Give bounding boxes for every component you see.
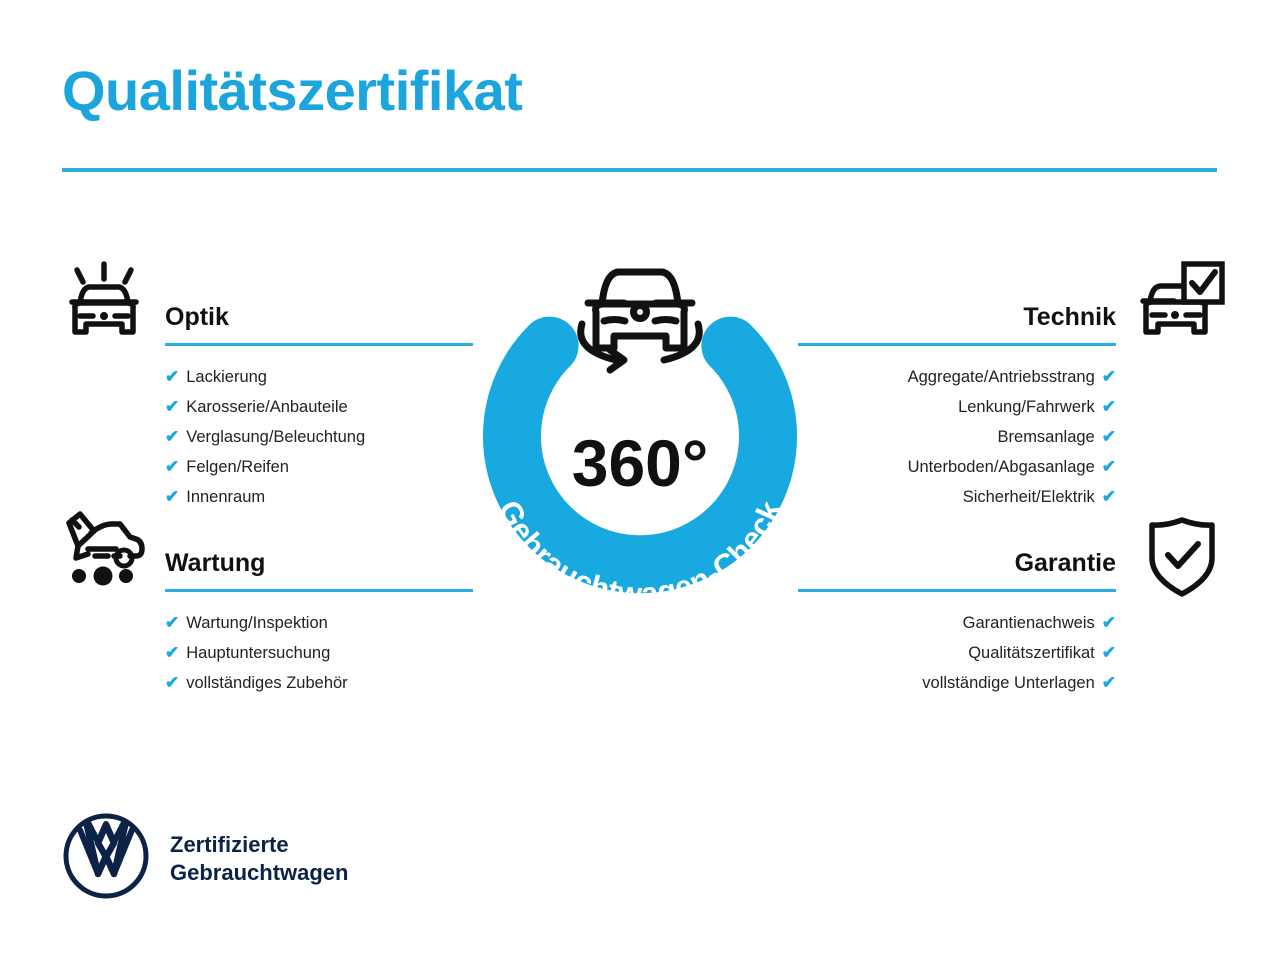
- check-icon: ✔: [1102, 638, 1116, 668]
- list-item: ✔Felgen/Reifen: [165, 452, 473, 482]
- list-item-label: Hauptuntersuchung: [186, 638, 330, 668]
- section-title: Wartung: [165, 546, 473, 580]
- section-header-garantie: Garantie: [798, 546, 1116, 592]
- check-icon: ✔: [165, 362, 179, 392]
- car-checkbox-icon: [1134, 258, 1226, 349]
- list-item: Qualitätszertifikat✔: [798, 638, 1116, 668]
- list-item: vollständige Unterlagen✔: [798, 668, 1116, 698]
- car-rotation-360-icon: [581, 272, 700, 370]
- section-title: Optik: [165, 300, 473, 334]
- check-icon: ✔: [165, 392, 179, 422]
- title-divider: [62, 168, 1217, 172]
- list-item: ✔Innenraum: [165, 482, 473, 512]
- section-divider: [798, 343, 1116, 346]
- check-icon: ✔: [165, 452, 179, 482]
- footer-text: Zertifizierte Gebrauchtwagen: [170, 831, 348, 887]
- check-icon: ✔: [1102, 452, 1116, 482]
- list-item: ✔vollständiges Zubehör: [165, 668, 473, 698]
- check-icon: ✔: [165, 608, 179, 638]
- list-item: Bremsanlage✔: [798, 422, 1116, 452]
- checklist-garantie: Garantienachweis✔ Qualitätszertifikat✔ v…: [798, 608, 1116, 698]
- list-item-label: vollständige Unterlagen: [922, 668, 1094, 698]
- list-item-label: Lenkung/Fahrwerk: [958, 392, 1095, 422]
- list-item-label: Verglasung/Beleuchtung: [186, 422, 365, 452]
- check-icon: ✔: [1102, 482, 1116, 512]
- check-icon: ✔: [165, 668, 179, 698]
- check-icon: ✔: [1102, 608, 1116, 638]
- section-header-optik: Optik: [165, 300, 473, 346]
- footer-brand: Zertifizierte Gebrauchtwagen: [62, 812, 348, 905]
- checklist-technik: Aggregate/Antriebsstrang✔ Lenkung/Fahrwe…: [798, 362, 1116, 512]
- check-icon: ✔: [1102, 392, 1116, 422]
- list-item-label: Sicherheit/Elektrik: [963, 482, 1095, 512]
- car-shine-icon: [58, 258, 150, 349]
- section-technik: Technik Aggregate/Antriebsstrang✔ Lenkun…: [798, 300, 1116, 512]
- list-item-label: Felgen/Reifen: [186, 452, 289, 482]
- section-divider: [165, 343, 473, 346]
- checklist-wartung: ✔Wartung/Inspektion ✔Hauptuntersuchung ✔…: [165, 608, 473, 698]
- section-header-wartung: Wartung: [165, 546, 473, 592]
- list-item-label: Wartung/Inspektion: [186, 608, 328, 638]
- check-icon: ✔: [165, 482, 179, 512]
- section-divider: [798, 589, 1116, 592]
- list-item: ✔Lackierung: [165, 362, 473, 392]
- check-icon: ✔: [1102, 422, 1116, 452]
- list-item-label: Qualitätszertifikat: [968, 638, 1095, 668]
- check-icon: ✔: [165, 422, 179, 452]
- list-item-label: Bremsanlage: [998, 422, 1095, 452]
- badge-center-label: 360°: [572, 426, 709, 500]
- list-item: Lenkung/Fahrwerk✔: [798, 392, 1116, 422]
- list-item-label: vollständiges Zubehör: [186, 668, 347, 698]
- checklist-optik: ✔Lackierung ✔Karosserie/Anbauteile ✔Verg…: [165, 362, 473, 512]
- list-item: Sicherheit/Elektrik✔: [798, 482, 1116, 512]
- list-item: ✔Hauptuntersuchung: [165, 638, 473, 668]
- list-item-label: Karosserie/Anbauteile: [186, 392, 347, 422]
- section-divider: [165, 589, 473, 592]
- check-icon: ✔: [1102, 362, 1116, 392]
- section-title: Garantie: [798, 546, 1116, 580]
- list-item: Unterboden/Abgasanlage✔: [798, 452, 1116, 482]
- list-item: ✔Karosserie/Anbauteile: [165, 392, 473, 422]
- list-item-label: Innenraum: [186, 482, 265, 512]
- list-item: Garantienachweis✔: [798, 608, 1116, 638]
- volkswagen-logo: [62, 812, 150, 905]
- badge-360-gebrauchtwagen-check: Gebrauchtwagen-Check 360°: [452, 244, 828, 634]
- pen-car-service-icon: [58, 506, 150, 597]
- section-optik: Optik ✔Lackierung ✔Karosserie/Anbauteile…: [165, 300, 473, 512]
- list-item: Aggregate/Antriebsstrang✔: [798, 362, 1116, 392]
- section-garantie: Garantie Garantienachweis✔ Qualitätszert…: [798, 546, 1116, 698]
- page-title: Qualitätszertifikat: [62, 58, 522, 123]
- section-wartung: Wartung ✔Wartung/Inspektion ✔Hauptunters…: [165, 546, 473, 698]
- list-item-label: Unterboden/Abgasanlage: [908, 452, 1095, 482]
- check-icon: ✔: [1102, 668, 1116, 698]
- list-item-label: Aggregate/Antriebsstrang: [908, 362, 1095, 392]
- section-title: Technik: [798, 300, 1116, 334]
- list-item: ✔Wartung/Inspektion: [165, 608, 473, 638]
- list-item: ✔Verglasung/Beleuchtung: [165, 422, 473, 452]
- shield-check-icon: [1142, 514, 1222, 605]
- list-item-label: Garantienachweis: [963, 608, 1095, 638]
- list-item-label: Lackierung: [186, 362, 267, 392]
- section-header-technik: Technik: [798, 300, 1116, 346]
- check-icon: ✔: [165, 638, 179, 668]
